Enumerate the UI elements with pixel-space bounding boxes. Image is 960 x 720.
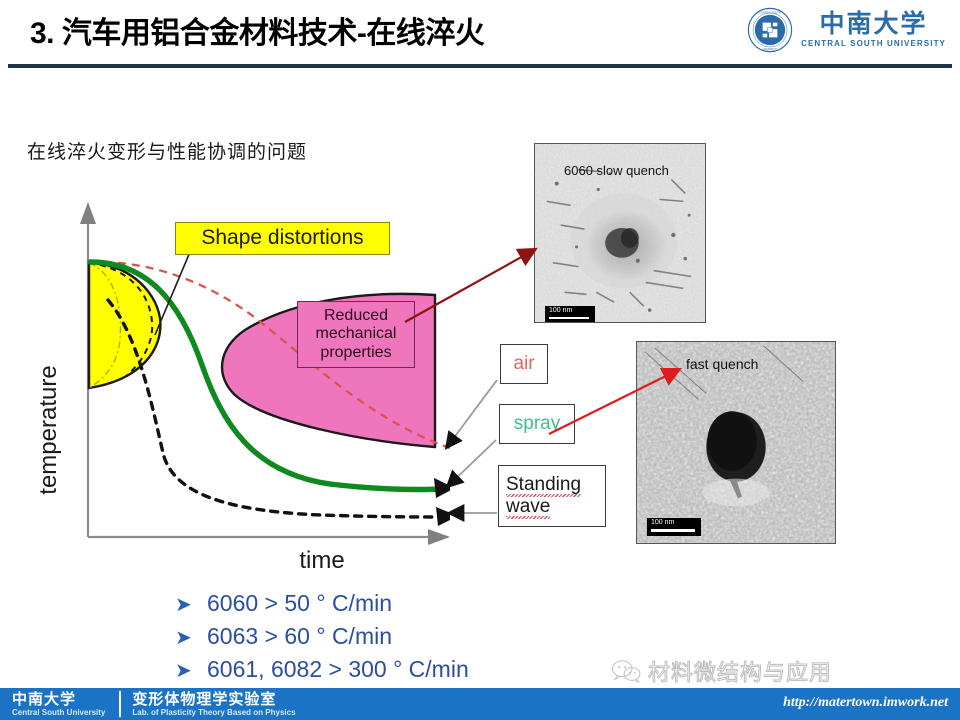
callout-standing-wave: Standing wave xyxy=(498,465,606,527)
wechat-icon xyxy=(611,659,641,683)
footer-university-en: Central South University xyxy=(12,709,105,717)
slow-quench-scale-rule xyxy=(549,317,589,319)
footer-university: 中南大学 Central South University xyxy=(12,692,105,717)
callout-spray-label: spray xyxy=(514,413,560,435)
spray-endpoint-arrowhead xyxy=(434,478,450,498)
fast-quench-scale-rule xyxy=(651,529,695,532)
bullet-arrow-icon: ➤ xyxy=(175,590,191,621)
slow-quench-caption: 6060 slow quench xyxy=(564,163,669,178)
callout-standing-line2: wave xyxy=(506,496,550,518)
arrow-spray-to-curve xyxy=(448,440,496,486)
footer-url[interactable]: http://matertown.imwork.net xyxy=(783,695,948,711)
slide-canvas: 3. 汽车用铝合金材料技术-在线淬火 CENTRAL SOUTH UNIVERS… xyxy=(0,0,960,720)
footer-bar: 中南大学 Central South University 变形体物理学实验室 … xyxy=(0,688,960,720)
header-divider xyxy=(8,64,952,68)
bullet-arrow-icon: ➤ xyxy=(175,656,191,687)
subtitle-text: 在线淬火变形与性能协调的问题 xyxy=(27,137,307,164)
callout-reduced-line1: Reduced xyxy=(324,307,388,325)
university-logo: CENTRAL SOUTH UNIVERSITY 中南大学 CENTRAL SO… xyxy=(747,6,946,54)
footer-divider xyxy=(119,691,121,717)
logo-name-en: CENTRAL SOUTH UNIVERSITY xyxy=(801,39,946,48)
footer-lab-en: Lab. of Plasticity Theory Based on Physi… xyxy=(132,709,295,717)
standing-endpoint-arrowhead xyxy=(436,507,450,526)
fast-quench-scale-text: 100 nm xyxy=(651,519,674,527)
slow-quench-scale-bar: 100 nm xyxy=(545,306,595,322)
callout-reduced-line2: mechanical xyxy=(316,325,397,343)
footer-lab-cn: 变形体物理学实验室 xyxy=(132,692,295,707)
logo-name-cn: 中南大学 xyxy=(820,12,928,38)
list-item-text: 6061, 6082 > 300 ° C/min xyxy=(207,654,469,685)
x-axis-label: time xyxy=(299,547,344,570)
list-item-text: 6063 > 60 ° C/min xyxy=(207,621,392,652)
footer-university-cn: 中南大学 xyxy=(12,692,105,707)
callout-spray: spray xyxy=(499,404,575,444)
callout-air: air xyxy=(500,344,548,384)
list-item: ➤ 6063 > 60 ° C/min xyxy=(175,621,469,654)
y-axis-label: temperature xyxy=(35,365,62,494)
callout-standing-line1: Standing xyxy=(506,474,581,496)
logo-wordmark: 中南大学 CENTRAL SOUTH UNIVERSITY xyxy=(801,12,946,48)
callout-shape-distortions-label: Shape distortions xyxy=(201,226,363,250)
callout-shape-distortions: Shape distortions xyxy=(175,222,390,255)
page-title: 3. 汽车用铝合金材料技术-在线淬火 xyxy=(30,8,484,52)
callout-air-label: air xyxy=(513,353,534,375)
slow-quench-scale-text: 100 nm xyxy=(549,307,572,315)
arrow-air-to-curve xyxy=(447,380,497,447)
list-item: ➤ 6060 > 50 ° C/min xyxy=(175,588,469,621)
fast-quench-caption: fast quench xyxy=(686,356,758,372)
cooling-rate-list: ➤ 6060 > 50 ° C/min ➤ 6063 > 60 ° C/min … xyxy=(175,588,469,687)
watermark-label: 材料微结构与应用 xyxy=(648,655,832,687)
svg-text:CENTRAL SOUTH: CENTRAL SOUTH xyxy=(759,11,780,14)
list-item-text: 6060 > 50 ° C/min xyxy=(207,588,392,619)
callout-reduced-properties: Reduced mechanical properties xyxy=(297,301,415,368)
wechat-watermark: 材料微结构与应用 xyxy=(611,655,832,687)
bullet-arrow-icon: ➤ xyxy=(175,623,191,654)
footer-lab: 变形体物理学实验室 Lab. of Plasticity Theory Base… xyxy=(132,692,295,717)
svg-text:UNIVERSITY: UNIVERSITY xyxy=(763,48,778,51)
fast-quench-scale-bar: 100 nm xyxy=(647,518,701,536)
csu-seal-icon: CENTRAL SOUTH UNIVERSITY xyxy=(747,7,793,53)
list-item: ➤ 6061, 6082 > 300 ° C/min xyxy=(175,654,469,687)
callout-reduced-line3: properties xyxy=(320,344,391,362)
